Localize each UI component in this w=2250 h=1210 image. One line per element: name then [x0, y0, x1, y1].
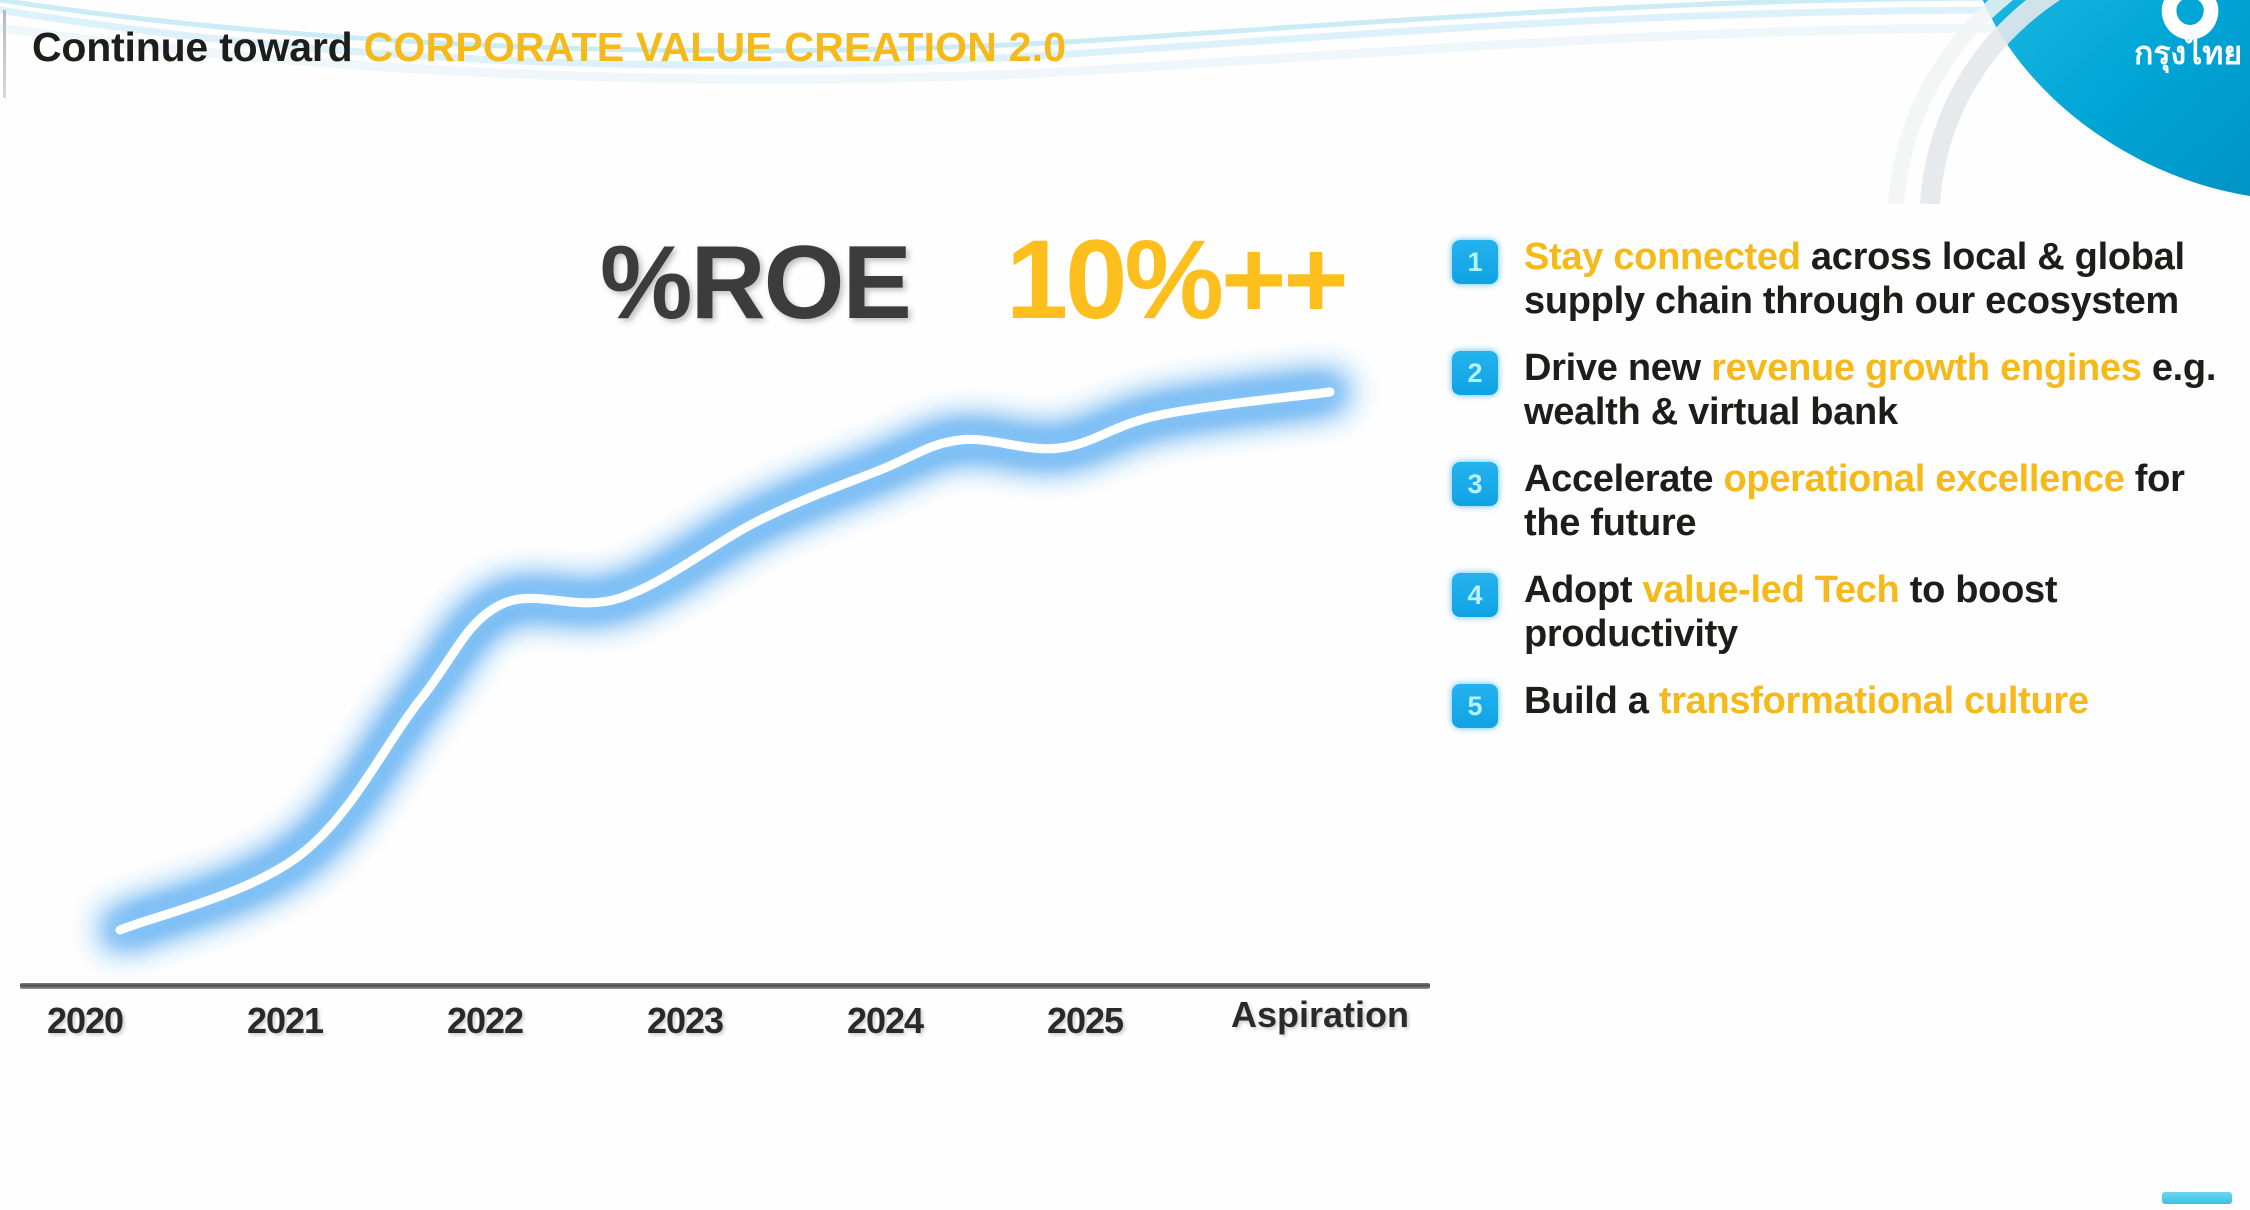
bullet-text-4: Adopt value-led Tech to boost productivi…	[1524, 568, 2232, 657]
x-tick-2024: 2024	[847, 1000, 923, 1042]
bullet-highlight-text: operational excellence	[1724, 458, 2125, 500]
slide-root: Continue toward CORPORATE VALUE CREATION…	[0, 0, 2250, 1210]
list-item: 4 Adopt value-led Tech to boost producti…	[1452, 568, 2232, 657]
x-axis-tick-labels: 2020 2021 2022 2023 2024 2025 Aspiration	[0, 1000, 1470, 1060]
list-item: 5 Build a transformational culture	[1452, 679, 2232, 728]
bullet-plain-text: Accelerate	[1524, 458, 1724, 500]
bullet-highlight-text: revenue growth engines	[1711, 347, 2142, 389]
left-edge-rule	[3, 10, 6, 98]
x-tick-2025: 2025	[1047, 1000, 1123, 1042]
roe-curve	[0, 300, 1470, 1000]
x-tick-2023: 2023	[647, 1000, 723, 1042]
bullet-badge-3: 3	[1452, 462, 1498, 506]
x-tick-2021: 2021	[247, 1000, 323, 1042]
x-tick-2020: 2020	[47, 1000, 123, 1042]
logo-brand-text: กรุงไทย	[2134, 34, 2242, 74]
bullet-plain-text: Build a	[1524, 680, 1659, 722]
x-tick-aspiration: Aspiration	[1231, 994, 1409, 1036]
bullet-highlight-text: transformational culture	[1659, 680, 2089, 722]
bullet-highlight-text: Stay connected	[1524, 236, 1801, 278]
bullet-text-5: Build a transformational culture	[1524, 679, 2089, 723]
list-item: 3 Accelerate operational excellence for …	[1452, 457, 2232, 546]
bullet-badge-4: 4	[1452, 573, 1498, 617]
krungthai-logo: กรุงไทย	[1870, 0, 2250, 204]
bullet-text-2: Drive new revenue growth engines e.g. we…	[1524, 346, 2232, 435]
list-item: 1 Stay connected across local & global s…	[1452, 235, 2232, 324]
bullet-badge-1: 1	[1452, 240, 1498, 284]
bullet-text-3: Accelerate operational excellence for th…	[1524, 457, 2232, 546]
list-item: 2 Drive new revenue growth engines e.g. …	[1452, 346, 2232, 435]
page-title-prefix: Continue toward	[32, 24, 364, 70]
page-title-emphasis: CORPORATE VALUE CREATION 2.0	[364, 24, 1067, 70]
x-tick-2022: 2022	[447, 1000, 523, 1042]
bullet-plain-text: Drive new	[1524, 347, 1711, 389]
bullet-highlight-text: value-led Tech	[1643, 569, 1900, 611]
x-axis-line	[20, 983, 1430, 989]
bullet-plain-text: Adopt	[1524, 569, 1643, 611]
bullet-badge-2: 2	[1452, 351, 1498, 395]
strategy-bullet-list: 1 Stay connected across local & global s…	[1452, 235, 2232, 750]
page-title: Continue toward CORPORATE VALUE CREATION…	[32, 24, 1066, 71]
roe-trend-chart: 2020 2021 2022 2023 2024 2025 Aspiration	[0, 300, 1470, 1060]
bullet-badge-5: 5	[1452, 684, 1498, 728]
corner-accent-chip	[2162, 1192, 2232, 1204]
bullet-text-1: Stay connected across local & global sup…	[1524, 235, 2232, 324]
